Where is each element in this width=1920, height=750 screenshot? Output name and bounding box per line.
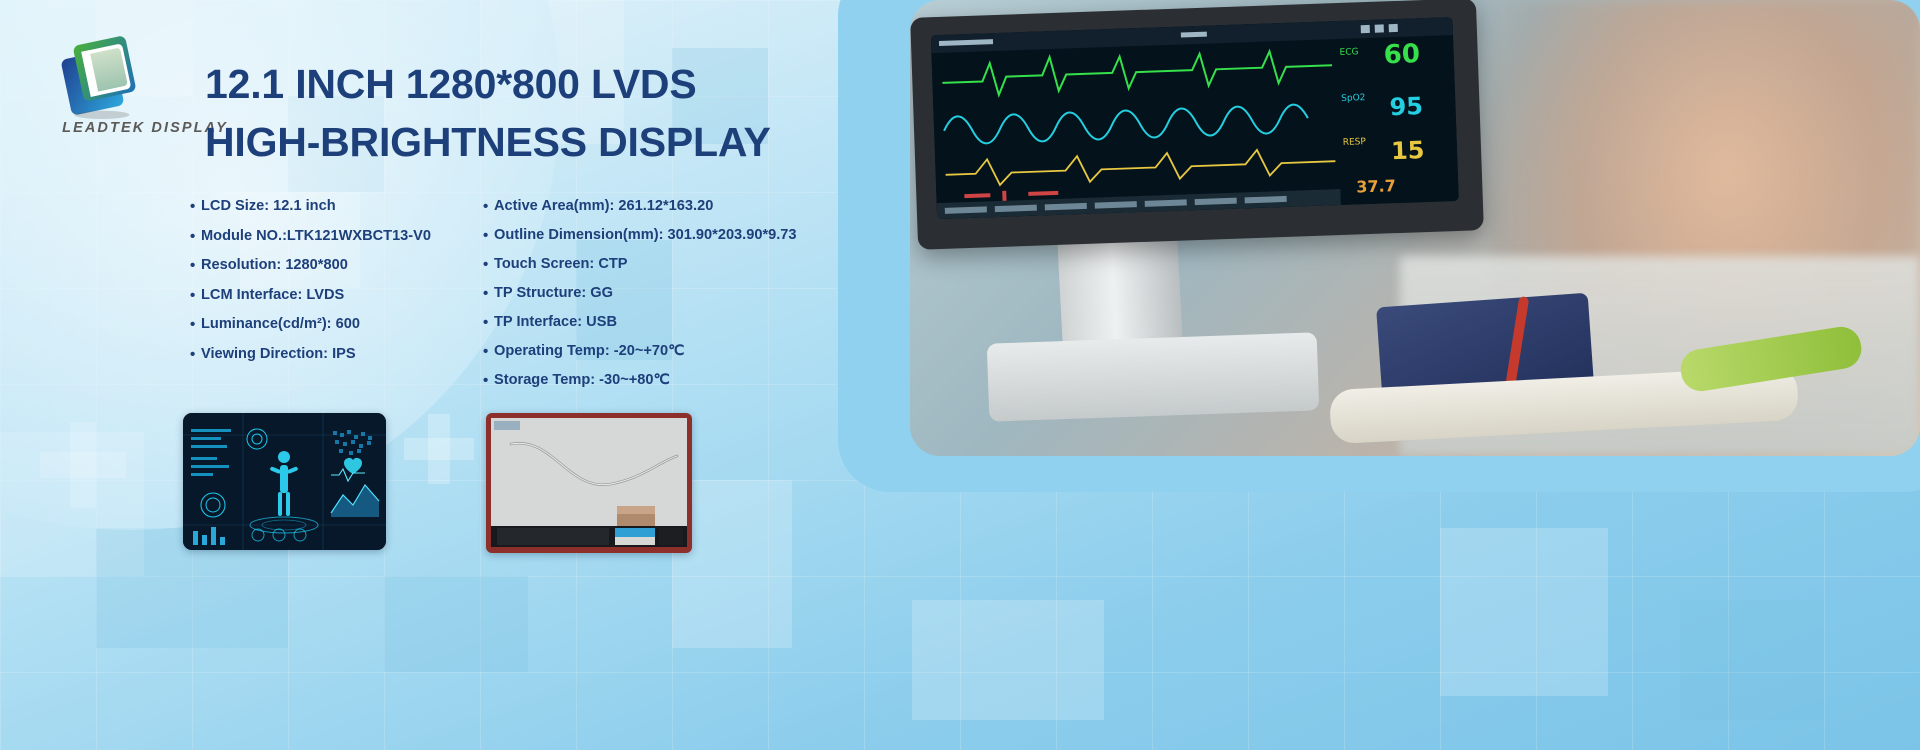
lcd-panel-surface bbox=[491, 418, 687, 547]
vital-signs-waveform-display: 60 ECG 95 SpO2 15 RESP 37.7 bbox=[931, 17, 1459, 219]
patient-monitor-device: 60 ECG 95 SpO2 15 RESP 37.7 bbox=[910, 0, 1484, 250]
spec-item: • Touch Screen: CTP bbox=[483, 250, 873, 279]
spec-item: • TP Structure: GG bbox=[483, 279, 873, 308]
medical-patient-monitor-photo: 60 ECG 95 SpO2 15 RESP 37.7 bbox=[910, 0, 1920, 456]
spec-item: • Operating Temp: -20~+70℃ bbox=[483, 337, 873, 366]
monitor-screen: 60 ECG 95 SpO2 15 RESP 37.7 bbox=[931, 17, 1459, 219]
spec-column-left: • LCD Size: 12.1 inch • Module NO.:LTK12… bbox=[190, 192, 490, 369]
spec-item: • Viewing Direction: IPS bbox=[190, 340, 490, 370]
spec-text: LCD Size: 12.1 inch bbox=[201, 192, 336, 222]
spec-text: Resolution: 1280*800 bbox=[201, 251, 348, 281]
spec-column-right: • Active Area(mm): 261.12*163.20 • Outli… bbox=[483, 192, 873, 395]
spec-text: TP Structure: GG bbox=[494, 279, 613, 308]
spec-item: • Outline Dimension(mm): 301.90*203.90*9… bbox=[483, 221, 873, 250]
bullet-icon: • bbox=[483, 250, 494, 279]
svg-text:SpO2: SpO2 bbox=[1341, 93, 1366, 104]
svg-text:ECG: ECG bbox=[1339, 47, 1358, 58]
spec-item: • Active Area(mm): 261.12*163.20 bbox=[483, 192, 873, 221]
bullet-icon: • bbox=[190, 281, 201, 311]
bullet-icon: • bbox=[190, 251, 201, 281]
spec-text: Operating Temp: -20~+70℃ bbox=[494, 337, 685, 366]
hero-image-frame: 60 ECG 95 SpO2 15 RESP 37.7 bbox=[838, 0, 1920, 492]
bullet-icon: • bbox=[483, 221, 494, 250]
lcd-panel-thumbnail[interactable] bbox=[486, 413, 692, 553]
svg-text:RESP: RESP bbox=[1343, 137, 1367, 148]
bullet-icon: • bbox=[483, 337, 494, 366]
spec-item: • Storage Temp: -30~+80℃ bbox=[483, 366, 873, 395]
lcd-panel-graphic bbox=[491, 418, 687, 547]
bullet-icon: • bbox=[190, 192, 201, 222]
hud-graphic bbox=[183, 413, 386, 550]
bullet-icon: • bbox=[190, 222, 201, 252]
svg-text:60: 60 bbox=[1383, 39, 1420, 70]
bullet-icon: • bbox=[190, 310, 201, 340]
bullet-icon: • bbox=[190, 340, 201, 370]
spec-text: Luminance(cd/m²): 600 bbox=[201, 310, 360, 340]
spec-text: TP Interface: USB bbox=[494, 308, 617, 337]
bullet-icon: • bbox=[483, 279, 494, 308]
product-banner: LEADTEK DISPLAY 12.1 INCH 1280*800 LVDS … bbox=[0, 0, 1920, 750]
spec-item: • Resolution: 1280*800 bbox=[190, 251, 490, 281]
spec-text: Viewing Direction: IPS bbox=[201, 340, 356, 370]
leadtek-book-logo-icon bbox=[54, 32, 146, 124]
headline-line-1: 12.1 INCH 1280*800 LVDS bbox=[205, 61, 696, 107]
spec-item: • LCM Interface: LVDS bbox=[190, 281, 490, 311]
spec-text: LCM Interface: LVDS bbox=[201, 281, 344, 311]
spec-item: • TP Interface: USB bbox=[483, 308, 873, 337]
bullet-icon: • bbox=[483, 192, 494, 221]
spec-item: • Module NO.:LTK121WXBCT13-V0 bbox=[190, 222, 490, 252]
bullet-icon: • bbox=[483, 308, 494, 337]
bullet-icon: • bbox=[483, 366, 494, 395]
hud-interface-thumbnail[interactable] bbox=[183, 413, 386, 550]
spec-item: • LCD Size: 12.1 inch bbox=[190, 192, 490, 222]
spec-text: Active Area(mm): 261.12*163.20 bbox=[494, 192, 713, 221]
spec-text: Touch Screen: CTP bbox=[494, 250, 628, 279]
monitor-base bbox=[987, 332, 1320, 421]
svg-text:15: 15 bbox=[1391, 136, 1425, 165]
spec-text: Module NO.:LTK121WXBCT13-V0 bbox=[201, 222, 431, 252]
spec-item: • Luminance(cd/m²): 600 bbox=[190, 310, 490, 340]
cross-motif bbox=[428, 414, 450, 484]
spec-text: Outline Dimension(mm): 301.90*203.90*9.7… bbox=[494, 221, 797, 250]
spec-text: Storage Temp: -30~+80℃ bbox=[494, 366, 670, 395]
svg-text:37.7: 37.7 bbox=[1356, 176, 1396, 196]
svg-text:95: 95 bbox=[1389, 92, 1423, 121]
